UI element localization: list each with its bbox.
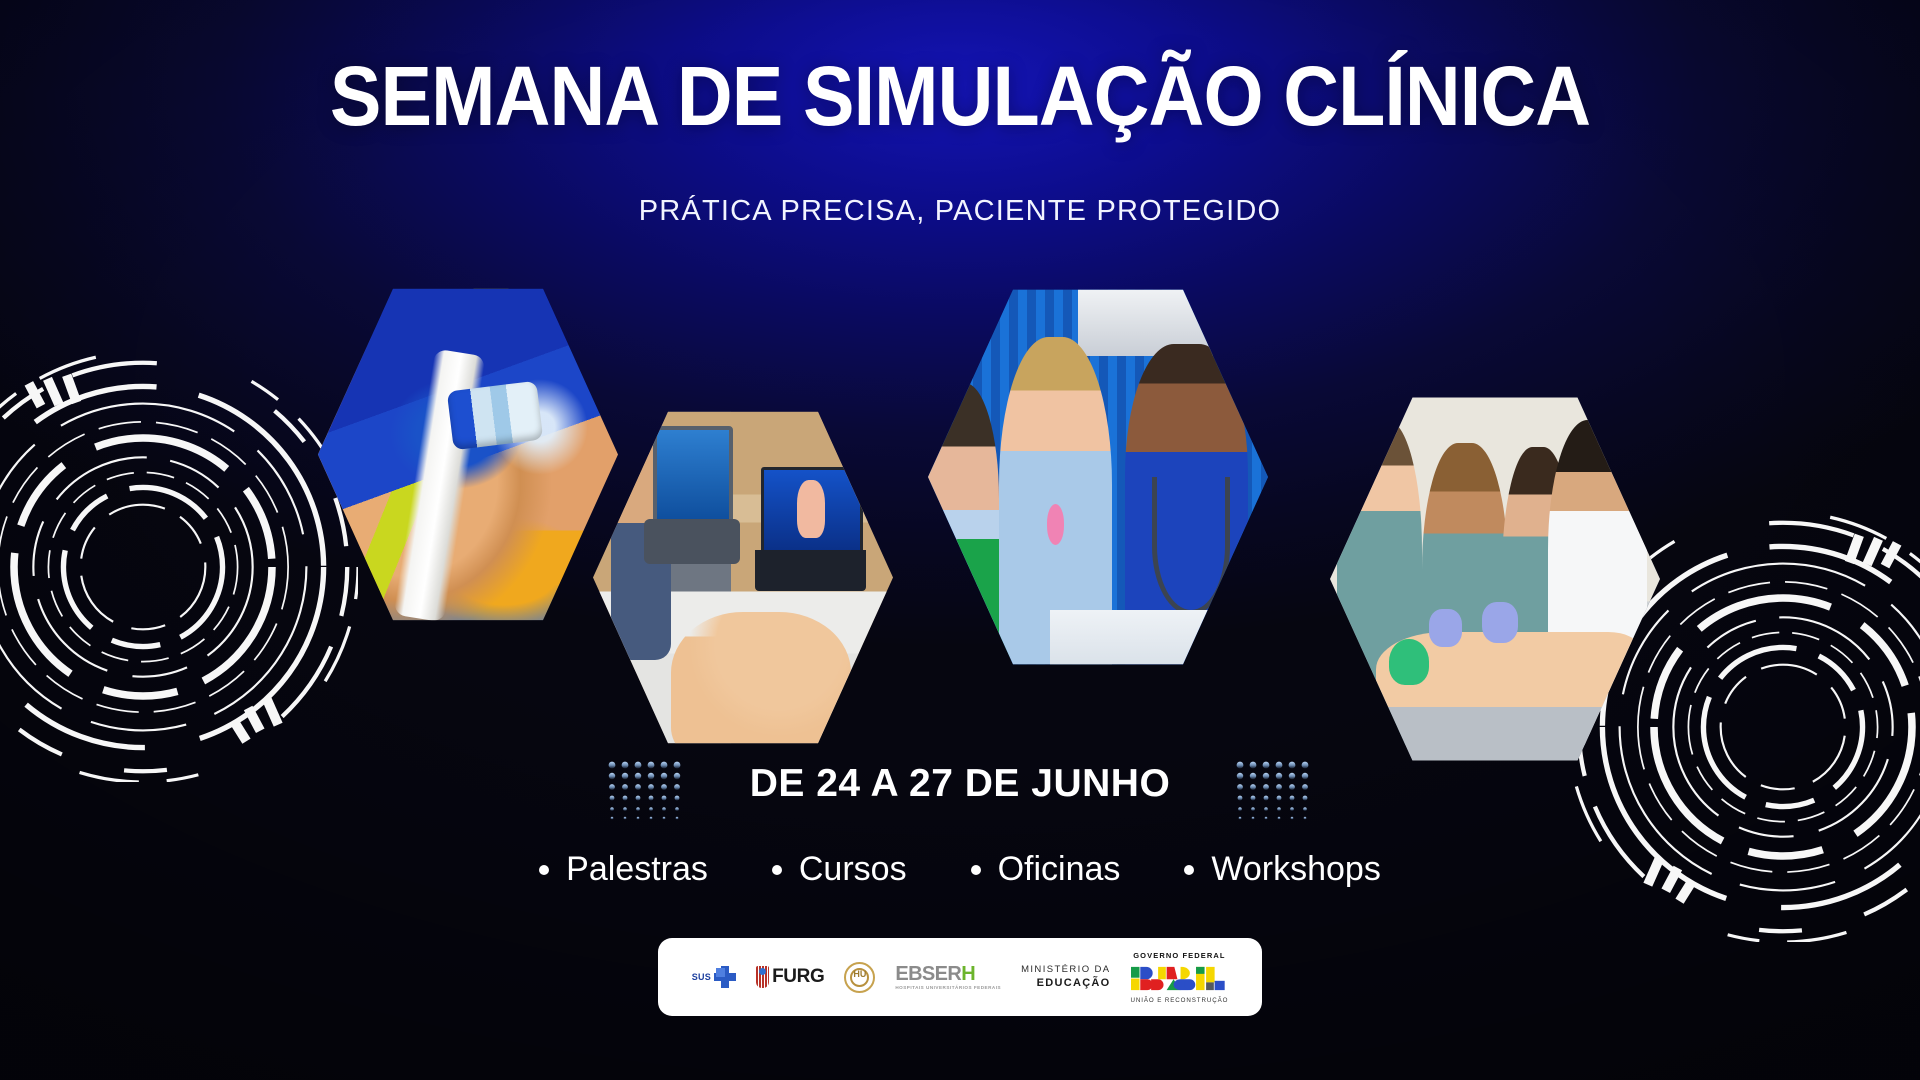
mec-line2: EDUCAÇÃO xyxy=(1037,977,1111,990)
gov-top-label: GOVERNO FEDERAL xyxy=(1133,951,1225,960)
activity-label: Palestras xyxy=(566,850,708,889)
mec-logo: MINISTÉRIO DA EDUCAÇÃO xyxy=(1021,965,1110,990)
ultrasound-manikin-photo xyxy=(593,405,893,750)
page-subtitle: PRÁTICA PRECISA, PACIENTE PROTEGIDO xyxy=(0,195,1920,228)
page-title: SEMANA DE SIMULAÇÃO CLÍNICA xyxy=(77,52,1843,140)
list-item: Palestras xyxy=(539,850,708,889)
sus-logo: SUS xyxy=(692,966,736,988)
brasil-wordmark-icon xyxy=(1131,962,1227,995)
bullet-dot-icon xyxy=(971,865,981,875)
ebserh-label: EBSER xyxy=(895,963,961,985)
gov-federal-logo: GOVERNO FEDERAL UNIÃO E RECONSTRUÇÃO xyxy=(1131,951,1229,1004)
nursing-team-photo xyxy=(928,282,1268,672)
gov-bottom-label: UNIÃO E RECONSTRUÇÃO xyxy=(1131,997,1229,1004)
list-item: Workshops xyxy=(1184,850,1380,889)
cross-icon xyxy=(714,966,736,988)
bullet-dot-icon xyxy=(1184,865,1194,875)
activity-label: Cursos xyxy=(799,850,907,889)
ebserh-accent: H xyxy=(961,963,975,985)
manikin-airway-photo xyxy=(318,282,618,627)
ebserh-wordmark: EBSERH xyxy=(895,964,975,984)
bullet-dot-icon xyxy=(539,865,549,875)
activities-list: Palestras Cursos Oficinas Workshops xyxy=(0,850,1920,889)
photo-collage xyxy=(0,0,1920,1080)
list-item: Oficinas xyxy=(971,850,1121,889)
bullet-dot-icon xyxy=(772,865,782,875)
sponsor-logo-bar: SUS FURG HU EBSERH HOSPITAIS UNIVERSITÁR… xyxy=(658,938,1262,1016)
mec-line1: MINISTÉRIO DA xyxy=(1021,965,1110,976)
event-date: DE 24 A 27 DE JUNHO xyxy=(0,762,1920,806)
sus-label: SUS xyxy=(692,972,711,982)
poster-canvas: SEMANA DE SIMULAÇÃO CLÍNICA PRÁTICA PREC… xyxy=(0,0,1920,1080)
activity-label: Oficinas xyxy=(998,850,1121,889)
ebserh-logo: EBSERH HOSPITAIS UNIVERSITÁRIOS FEDERAIS xyxy=(895,964,1001,990)
activity-label: Workshops xyxy=(1211,850,1380,889)
furg-label: FURG xyxy=(772,966,824,988)
resuscitation-team-photo xyxy=(1330,390,1660,768)
list-item: Cursos xyxy=(772,850,907,889)
furg-logo: FURG xyxy=(756,966,824,988)
hu-label: HU xyxy=(846,969,873,979)
hu-seal-icon: HU xyxy=(844,962,875,993)
furg-mark-icon xyxy=(756,966,769,988)
ebserh-subtitle: HOSPITAIS UNIVERSITÁRIOS FEDERAIS xyxy=(895,985,1001,990)
